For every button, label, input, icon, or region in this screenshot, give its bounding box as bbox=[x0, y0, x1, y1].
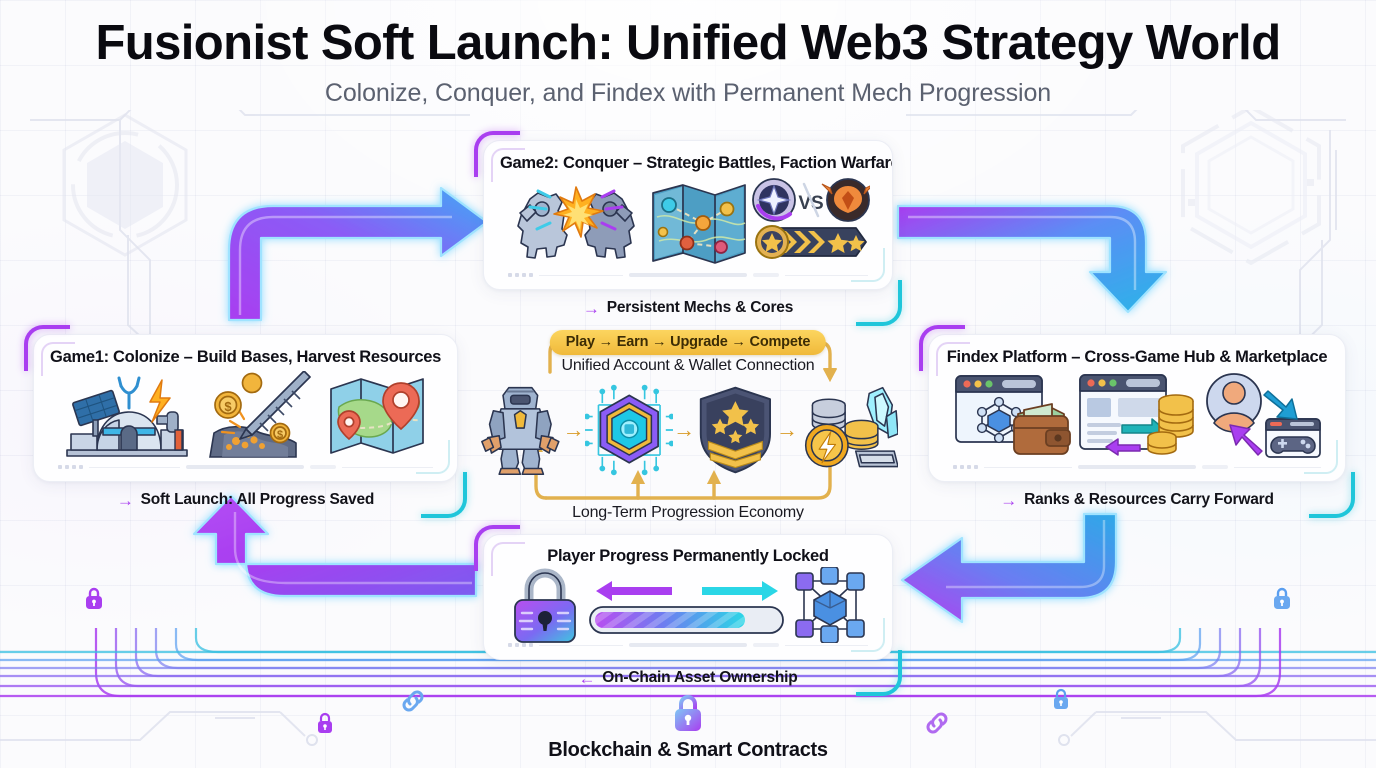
card-game1-title: Game1: Colonize – Build Bases, Harvest R… bbox=[50, 348, 441, 367]
padlock-icon bbox=[672, 693, 704, 733]
hub-chevron-icon-2: → bbox=[673, 419, 695, 441]
padlock-icon bbox=[316, 712, 334, 734]
mech-battle-icon bbox=[506, 179, 646, 265]
card-findex-footer-detail bbox=[953, 465, 1321, 469]
progress-bar-icon bbox=[584, 567, 789, 643]
wallet-connect-icon bbox=[952, 372, 1072, 458]
padlock-icon bbox=[507, 567, 583, 643]
strategy-map-icon bbox=[647, 177, 751, 267]
center-hub: Play → Earn → Upgrade → Compete Unified … bbox=[478, 330, 898, 520]
card-game1-wrapper[interactable]: Game1: Colonize – Build Bases, Harvest R… bbox=[33, 334, 458, 509]
territory-map-icon bbox=[325, 371, 429, 459]
base-building-icon bbox=[63, 372, 191, 458]
card-game1-footer-detail bbox=[58, 465, 433, 469]
card-findex-title: Findex Platform – Cross-Game Hub & Marke… bbox=[945, 348, 1329, 367]
caption-arrow-icon: ← bbox=[578, 670, 595, 687]
card-progress-title: Player Progress Permanently Locked bbox=[500, 547, 876, 566]
caption-text: On-Chain Asset Ownership bbox=[602, 669, 797, 687]
hub-bottom-label: Long-Term Progression Economy bbox=[572, 504, 804, 522]
card-findex-icons bbox=[945, 367, 1329, 462]
svg-text:$: $ bbox=[224, 399, 232, 414]
card-game1-caption: → Soft Launch: All Progress Saved bbox=[33, 491, 458, 509]
arrow-game1-to-game2 bbox=[229, 188, 487, 320]
card-findex[interactable]: Findex Platform – Cross-Game Hub & Marke… bbox=[928, 334, 1346, 482]
rank-insignia-icon bbox=[695, 382, 776, 478]
economy-loop-badge: Play → Earn → Upgrade → Compete bbox=[550, 330, 826, 355]
card-game2-wrapper[interactable]: Game2: Conquer – Strategic Battles, Fact… bbox=[483, 140, 893, 317]
card-game2-title: Game2: Conquer – Strategic Battles, Fact… bbox=[500, 154, 876, 173]
card-progress[interactable]: Player Progress Permanently Locked bbox=[483, 534, 893, 660]
arrow-findex-to-progress bbox=[902, 514, 1116, 622]
cross-game-account-icon bbox=[1202, 371, 1322, 459]
caption-arrow-icon: → bbox=[583, 300, 600, 317]
faction-vs-rank-icon: VS bbox=[752, 176, 870, 268]
card-game2-icons: VS bbox=[500, 173, 876, 270]
hub-chevron-icon-1: → bbox=[563, 419, 585, 441]
card-progress-wrapper[interactable]: Player Progress Permanently Locked bbox=[483, 534, 893, 687]
page-title: Fusionist Soft Launch: Unified Web3 Stra… bbox=[0, 18, 1376, 69]
caption-text: Soft Launch: All Progress Saved bbox=[141, 491, 375, 509]
marketplace-trade-icon bbox=[1078, 371, 1196, 459]
svg-text:$: $ bbox=[276, 429, 282, 441]
mech-pilot-icon bbox=[478, 382, 563, 478]
card-findex-caption: → Ranks & Resources Carry Forward bbox=[928, 491, 1346, 509]
chain-link-icon bbox=[922, 710, 952, 736]
hub-chevron-icon-3: → bbox=[776, 419, 798, 441]
page-subtitle: Colonize, Conquer, and Findex with Perma… bbox=[0, 79, 1376, 108]
padlock-icon bbox=[84, 586, 104, 610]
caption-text: Ranks & Resources Carry Forward bbox=[1024, 491, 1274, 509]
chain-link-icon bbox=[398, 688, 428, 714]
hub-top-label: Unified Account & Wallet Connection bbox=[562, 357, 815, 375]
blockchain-node-icon bbox=[790, 567, 870, 643]
arrow-progress-to-game1 bbox=[194, 496, 476, 596]
caption-arrow-icon: → bbox=[1000, 492, 1017, 509]
hub-step-row: → → bbox=[478, 382, 898, 478]
svg-text:VS: VS bbox=[798, 193, 823, 214]
rewards-stack-icon bbox=[798, 382, 898, 478]
card-game2-footer-detail bbox=[508, 273, 868, 277]
card-findex-wrapper[interactable]: Findex Platform – Cross-Game Hub & Marke… bbox=[928, 334, 1346, 509]
caption-arrow-icon: → bbox=[117, 492, 134, 509]
padlock-icon bbox=[1272, 586, 1292, 610]
arrow-game2-to-findex bbox=[898, 206, 1166, 312]
core-chip-icon bbox=[585, 382, 674, 478]
card-game2-caption: → Persistent Mechs & Cores bbox=[483, 299, 893, 317]
card-game1-icons: $ $ bbox=[50, 367, 441, 462]
caption-text: Persistent Mechs & Cores bbox=[607, 299, 793, 317]
card-progress-caption: ← On-Chain Asset Ownership bbox=[483, 669, 893, 687]
resource-mining-icon: $ $ bbox=[200, 371, 316, 459]
padlock-icon bbox=[1052, 688, 1070, 710]
card-game1[interactable]: Game1: Colonize – Build Bases, Harvest R… bbox=[33, 334, 458, 482]
blockchain-bus-label: Blockchain & Smart Contracts bbox=[548, 739, 827, 762]
card-progress-icons bbox=[500, 566, 876, 644]
header: Fusionist Soft Launch: Unified Web3 Stra… bbox=[0, 18, 1376, 108]
card-game2[interactable]: Game2: Conquer – Strategic Battles, Fact… bbox=[483, 140, 893, 290]
